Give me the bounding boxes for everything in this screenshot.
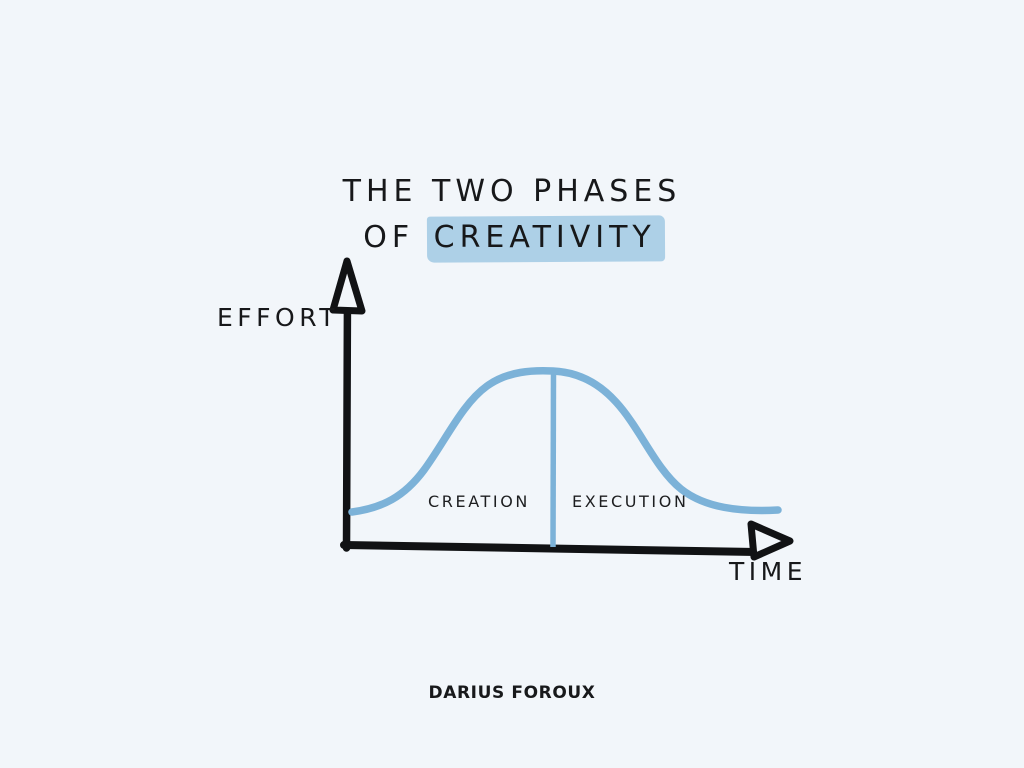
author-signature: DARIUS FOROUX <box>0 683 1024 703</box>
x-axis-label: TIME <box>729 557 807 586</box>
effort-curve <box>352 371 778 512</box>
phase-label-execution: EXECUTION <box>572 492 689 511</box>
phase-label-creation: CREATION <box>428 492 530 511</box>
phase-divider-line <box>553 372 554 547</box>
diagram-canvas: THE TWO PHASES OF CREATIVITY EFFORT TIME… <box>0 0 1024 768</box>
x-axis-line <box>344 545 756 552</box>
chart-drawing <box>0 0 1024 768</box>
y-axis-line <box>347 290 348 548</box>
y-axis-label: EFFORT <box>217 303 339 332</box>
x-axis-arrowhead-icon <box>751 524 790 557</box>
